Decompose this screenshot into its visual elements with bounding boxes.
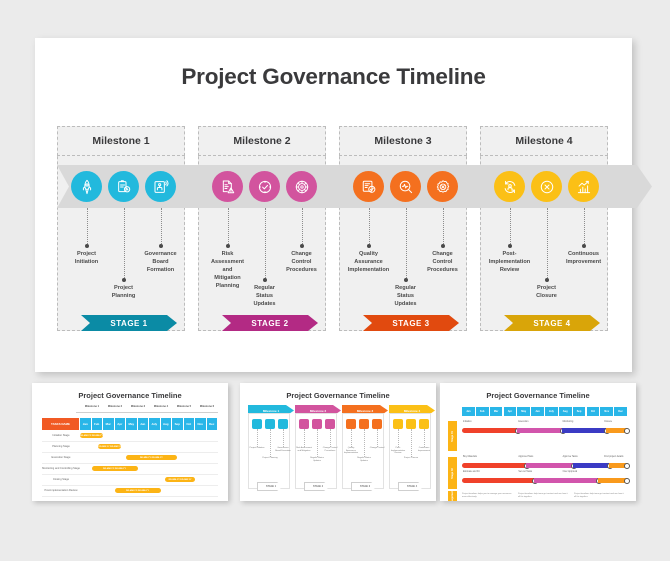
- gantt-month-header: Sep: [172, 418, 184, 430]
- gantt-bar[interactable]: DD-MM-YY DD-MM-YY: [126, 455, 177, 461]
- milestone-header-1: Milestone 1: [57, 126, 185, 156]
- check-shield-icon[interactable]: [249, 171, 280, 202]
- mini-item-label: Change Control Procedures: [322, 447, 338, 452]
- thumbnail-title: Project Governance Timeline: [440, 391, 636, 400]
- mini-connector: [411, 429, 412, 457]
- mini-stage-label: STAGE 2: [313, 485, 323, 488]
- bar-month-header: Apr: [504, 407, 518, 416]
- connector-dot: [300, 244, 304, 248]
- thumbnail-strip: Project Governance Timeline Milestone 1M…: [32, 383, 642, 503]
- mini-connector: [364, 429, 365, 457]
- screenshot-root: Project Governance Timeline Milestone 1 …: [0, 0, 670, 561]
- bar-month-header: Dec: [614, 407, 628, 416]
- mini-connector: [283, 429, 284, 447]
- close-circle-icon[interactable]: [531, 171, 562, 202]
- mini-item-label: Continuous Improvement: [416, 447, 432, 452]
- bar-side-label-text: Stage 01: [451, 431, 454, 442]
- milestone-item-label: ContinuousImprovement: [554, 250, 614, 266]
- mini-icon[interactable]: [252, 419, 262, 429]
- risk-document-icon[interactable]: [212, 171, 243, 202]
- bar-side-label: Stage 01: [448, 421, 457, 451]
- stage-banner-label: STAGE 2: [251, 319, 288, 328]
- milestone-item-label: RegularStatusUpdates: [376, 284, 436, 308]
- stage-banner-label: STAGE 4: [533, 319, 570, 328]
- mini-milestone-label: Milestone 1: [263, 409, 279, 413]
- mini-icon[interactable]: [299, 419, 309, 429]
- gantt-row-label: Post-Implementation Review: [42, 485, 80, 496]
- bar-side-label-text: Project Management: [451, 489, 454, 501]
- milestone-item-label: ProjectClosure: [517, 284, 577, 300]
- bar-segment[interactable]: [517, 428, 561, 433]
- milestone-header-label: Milestone 4: [515, 135, 572, 147]
- mini-icon[interactable]: [346, 419, 356, 429]
- gantt-month-header: Nov: [195, 418, 207, 430]
- gantt-month-header: Aug: [161, 418, 173, 430]
- gantt-month-header: Jun: [138, 418, 150, 430]
- mini-item-label: Governance Board Formation: [275, 447, 291, 452]
- connector-line: [228, 208, 229, 244]
- bar-segment[interactable]: [462, 428, 517, 433]
- milestone-column-1[interactable]: Milestone 1: [57, 126, 185, 331]
- growth-chart-icon[interactable]: [568, 171, 599, 202]
- connector-line: [124, 208, 125, 278]
- connector-line: [510, 208, 511, 244]
- thumbnail-gantt[interactable]: Project Governance Timeline Milestone 1M…: [32, 383, 228, 501]
- gantt-month-header: Apr: [115, 418, 127, 430]
- mini-connector: [398, 429, 399, 447]
- connector-line: [265, 208, 266, 278]
- bar-note: Project timelines helps you to manage yo…: [462, 493, 514, 499]
- mini-item-label: Regular Status Updates: [356, 457, 372, 462]
- gantt-month-header: Feb: [92, 418, 104, 430]
- bar-label: Estimate and Fit: [463, 471, 480, 473]
- bar-label: Monitoring: [563, 421, 574, 423]
- bar-month-header: Nov: [600, 407, 614, 416]
- connector-dot: [545, 278, 549, 282]
- mini-stage-label: STAGE 3: [360, 485, 370, 488]
- bar-note: Project timelines help team get context …: [574, 493, 626, 499]
- bar-month-header: May: [517, 407, 531, 416]
- milestone-item-label: ChangeControlProcedures: [272, 250, 332, 274]
- milestone-column-4[interactable]: Milestone 4: [480, 126, 608, 331]
- bar-label: Approve Plans: [518, 456, 533, 458]
- gantt-row-label: Initiation Stage: [42, 430, 80, 441]
- connector-line: [584, 208, 585, 244]
- mini-item-label: Project Closure: [403, 457, 419, 460]
- bar-segment[interactable]: [462, 463, 526, 468]
- connector-line: [443, 208, 444, 244]
- milestone-header-4: Milestone 4: [480, 126, 608, 156]
- stage-banner-2[interactable]: STAGE 2: [222, 315, 318, 331]
- bar-segment[interactable]: [562, 428, 606, 433]
- target-gear-icon[interactable]: [286, 171, 317, 202]
- clipboard-icon[interactable]: [108, 171, 139, 202]
- gantt-month-header: Oct: [184, 418, 196, 430]
- gantt-month-header: May: [126, 418, 138, 430]
- mini-milestone-label: Milestone 2: [310, 409, 326, 413]
- rocket-icon[interactable]: [71, 171, 102, 202]
- connector-dot: [263, 278, 267, 282]
- milestone-header-2: Milestone 2: [198, 126, 326, 156]
- magnifier-pulse-icon[interactable]: [390, 171, 421, 202]
- mini-connector: [377, 429, 378, 447]
- mini-item-label: Project Initiation: [249, 447, 265, 450]
- bar-label: Buy Materials: [463, 456, 477, 458]
- gantt-bar[interactable]: DD-MM-YY DD-MM-YY: [80, 433, 103, 439]
- bar-label: Find project details: [604, 456, 623, 458]
- thumbnail-timeline[interactable]: Project Governance Timeline Milestone 1P…: [240, 383, 436, 501]
- mini-item-label: Regular Status Updates: [309, 457, 325, 462]
- connector-line: [161, 208, 162, 244]
- mini-connector: [351, 429, 352, 447]
- mini-item-label: Risk Assessment and Mitigation: [296, 447, 312, 452]
- milestone-header-label: Milestone 1: [92, 135, 149, 147]
- mini-stage-label: STAGE 1: [266, 485, 276, 488]
- gantt-month-header: Dec: [207, 418, 219, 430]
- bar-segment[interactable]: [534, 478, 598, 483]
- thumbnail-bars[interactable]: Project Governance Timeline JanFebMarApr…: [440, 383, 636, 501]
- mini-item-label: Post-Implementation Review: [390, 447, 406, 455]
- bar-label: Initiation: [463, 421, 472, 423]
- mini-stage-label: STAGE 4: [407, 485, 417, 488]
- gantt-bar[interactable]: DD-MM-YY DD-MM-YY: [98, 444, 121, 450]
- milestone-header-3: Milestone 3: [339, 126, 467, 156]
- bar-segment[interactable]: [526, 463, 573, 468]
- connector-dot: [226, 244, 230, 248]
- stage-banner-1[interactable]: STAGE 1: [81, 315, 177, 331]
- connector-line: [302, 208, 303, 244]
- connector-line: [369, 208, 370, 244]
- mini-item-label: Project Planning: [262, 457, 278, 460]
- gantt-row-label: Monitoring and Controlling Stage: [42, 463, 80, 474]
- bar-month-header: Oct: [587, 407, 601, 416]
- milestone-item-label: QualityAssuranceImplementation: [339, 250, 399, 274]
- bar-month-header: July: [545, 407, 559, 416]
- milestone-item-label: ProjectInitiation: [57, 250, 117, 266]
- milestone-item-label: RegularStatusUpdates: [235, 284, 295, 308]
- gantt-row-label: Closing Stage: [42, 474, 80, 485]
- gear-badge-icon[interactable]: [427, 171, 458, 202]
- bar-label: Approve Tasks: [563, 456, 578, 458]
- mini-milestone-label: Milestone 3: [357, 409, 373, 413]
- mini-connector: [330, 429, 331, 447]
- milestone-header-label: Milestone 2: [233, 135, 290, 147]
- stage-banner-label: STAGE 1: [110, 319, 147, 328]
- mini-connector: [257, 429, 258, 447]
- milestone-columns: Milestone 1 Milestone 2 Milestone 3 Mile…: [57, 126, 612, 356]
- gantt-milestone-rule: [76, 412, 218, 413]
- mini-icon[interactable]: [312, 419, 322, 429]
- org-chart-icon[interactable]: [145, 171, 176, 202]
- gantt-row-label: Execution Stage: [42, 452, 80, 463]
- mini-milestone-label: Milestone 4: [404, 409, 420, 413]
- gantt-bar[interactable]: DD-MM-YY DD-MM-YY: [115, 488, 161, 494]
- gantt-task-header: TASKS NAME: [42, 418, 80, 430]
- milestone-item-label: GovernanceBoardFormation: [131, 250, 191, 274]
- bar-month-header: Aug: [559, 407, 573, 416]
- milestone-item-label: Post-ImplementationReview: [480, 250, 540, 274]
- bar-month-header: Feb: [476, 407, 490, 416]
- gantt-month-header: Jan: [80, 418, 92, 430]
- quality-check-icon[interactable]: [353, 171, 384, 202]
- bar-handle[interactable]: [624, 463, 630, 469]
- mini-icon[interactable]: [419, 419, 429, 429]
- mini-item-label: Quality Assurance Implementation: [343, 447, 359, 455]
- bar-label: Over Approval: [563, 471, 578, 473]
- mini-connector: [424, 429, 425, 447]
- stage-banner-3[interactable]: STAGE 3: [363, 315, 459, 331]
- stage-banner-label: STAGE 3: [392, 319, 429, 328]
- bar-month-header: Jun: [531, 407, 545, 416]
- bar-segment[interactable]: [573, 463, 609, 468]
- mini-icon[interactable]: [265, 419, 275, 429]
- mini-connector: [317, 429, 318, 457]
- milestone-item-label: ProjectPlanning: [94, 284, 154, 300]
- gantt-month-header: July: [149, 418, 161, 430]
- review-cycle-icon[interactable]: [494, 171, 525, 202]
- page-title: Project Governance Timeline: [35, 64, 632, 90]
- milestone-header-label: Milestone 3: [374, 135, 431, 147]
- bar-label: Closure: [604, 421, 612, 423]
- bar-handle[interactable]: [624, 478, 630, 484]
- mini-icon[interactable]: [372, 419, 382, 429]
- bar-segment[interactable]: [462, 478, 534, 483]
- gantt-milestone-label: Milestone 6: [194, 405, 220, 408]
- bar-side-label: Project Management: [448, 491, 457, 501]
- connector-dot: [441, 244, 445, 248]
- mini-icon[interactable]: [325, 419, 335, 429]
- connector-dot: [582, 244, 586, 248]
- bar-note: Project timelines help team get context …: [518, 493, 570, 499]
- mini-icon[interactable]: [278, 419, 288, 429]
- gantt-bar[interactable]: DD-MM-YY DD-MM-YY: [165, 477, 195, 483]
- bar-month-header: Mar: [490, 407, 504, 416]
- gantt-month-header: Mar: [103, 418, 115, 430]
- thumbnail-title: Project Governance Timeline: [32, 391, 228, 400]
- connector-line: [547, 208, 548, 278]
- bar-side-label-text: Stage 02: [451, 468, 454, 479]
- bar-month-header: Sep: [573, 407, 587, 416]
- connector-line: [87, 208, 88, 244]
- gantt-bar[interactable]: DD-MM-YY DD-MM-YY: [92, 466, 138, 472]
- mini-icon[interactable]: [359, 419, 369, 429]
- connector-dot: [367, 244, 371, 248]
- mini-connector: [304, 429, 305, 447]
- mini-icon[interactable]: [406, 419, 416, 429]
- connector-dot: [508, 244, 512, 248]
- connector-dot: [159, 244, 163, 248]
- connector-dot: [122, 278, 126, 282]
- main-slide: Project Governance Timeline Milestone 1 …: [35, 38, 632, 372]
- connector-dot: [404, 278, 408, 282]
- mini-icon[interactable]: [393, 419, 403, 429]
- bar-month-header: Jan: [462, 407, 476, 416]
- mini-connector: [270, 429, 271, 457]
- bar-label: Set out Tasks: [518, 471, 532, 473]
- gantt-row-label: Planning Stage: [42, 441, 80, 452]
- connector-line: [406, 208, 407, 278]
- milestone-item-label: ChangeControlProcedures: [413, 250, 473, 274]
- bar-side-label: Stage 02: [448, 457, 457, 489]
- thumbnail-title: Project Governance Timeline: [240, 391, 436, 400]
- connector-dot: [85, 244, 89, 248]
- mini-item-label: Change Control: [369, 447, 385, 450]
- bar-handle[interactable]: [624, 428, 630, 434]
- stage-banner-4[interactable]: STAGE 4: [504, 315, 600, 331]
- bar-label: Execution: [518, 421, 528, 423]
